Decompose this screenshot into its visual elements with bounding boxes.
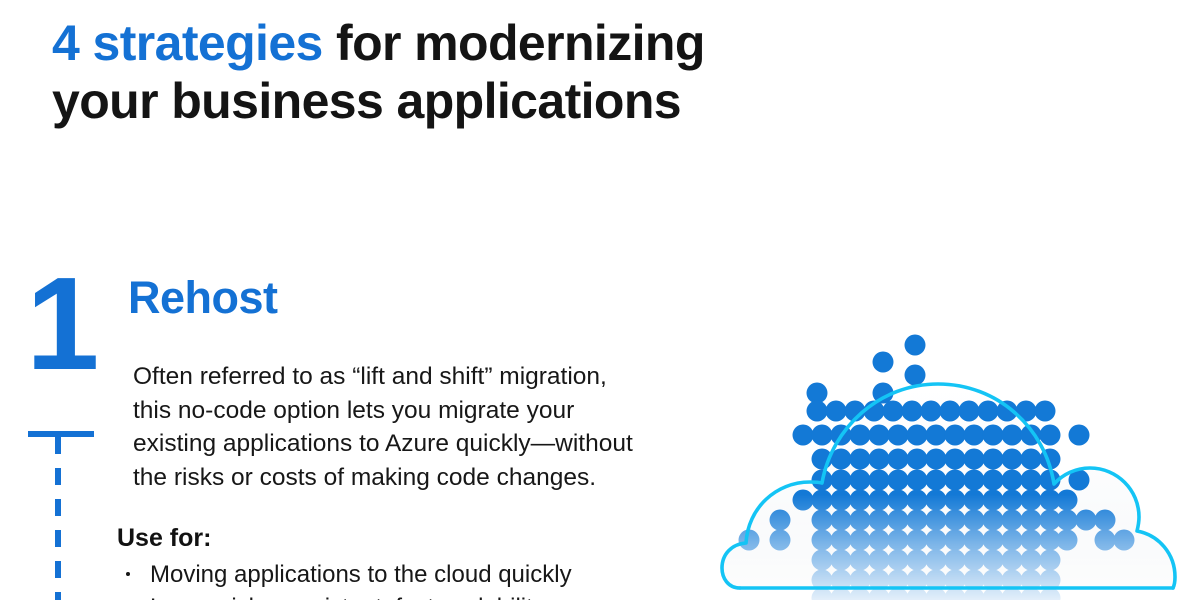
list-item: Lower-risk, consistent, fast scalability — [117, 591, 757, 600]
use-for-label: Use for: — [117, 523, 211, 553]
page-title-line-1: 4 strategies for modernizing — [52, 14, 872, 72]
step-number: 1 — [26, 258, 97, 390]
step-number-rule — [28, 431, 94, 437]
list-item-label: Lower-risk, consistent, fast scalability — [150, 594, 545, 600]
infographic-page: 4 strategies for modernizing your busine… — [0, 0, 1200, 600]
body-line: this no-code option lets you migrate you… — [133, 394, 733, 428]
cloud-illustration — [718, 322, 1200, 600]
cloud-graphic — [718, 322, 1200, 600]
page-title-line-2: your business applications — [52, 72, 872, 130]
page-title-rest: for modernizing — [323, 15, 705, 71]
use-for-bullet-list: Moving applications to the cloud quickly… — [117, 558, 757, 600]
body-line: Often referred to as “lift and shift” mi… — [133, 360, 733, 394]
page-title-accent: 4 strategies — [52, 15, 323, 71]
cloud-dot-grid — [718, 322, 1200, 600]
list-item-label: Moving applications to the cloud quickly — [150, 561, 572, 588]
section-body-text: Often referred to as “lift and shift” mi… — [133, 360, 733, 494]
bullet-dot-icon — [126, 572, 130, 576]
body-line: existing applications to Azure quickly—w… — [133, 427, 733, 461]
body-line: the risks or costs of making code change… — [133, 461, 733, 495]
page-title: 4 strategies for modernizing your busine… — [52, 14, 872, 130]
step-connector-dashed-line — [55, 437, 61, 600]
list-item: Moving applications to the cloud quickly — [117, 558, 757, 591]
section-heading: Rehost — [128, 272, 278, 324]
